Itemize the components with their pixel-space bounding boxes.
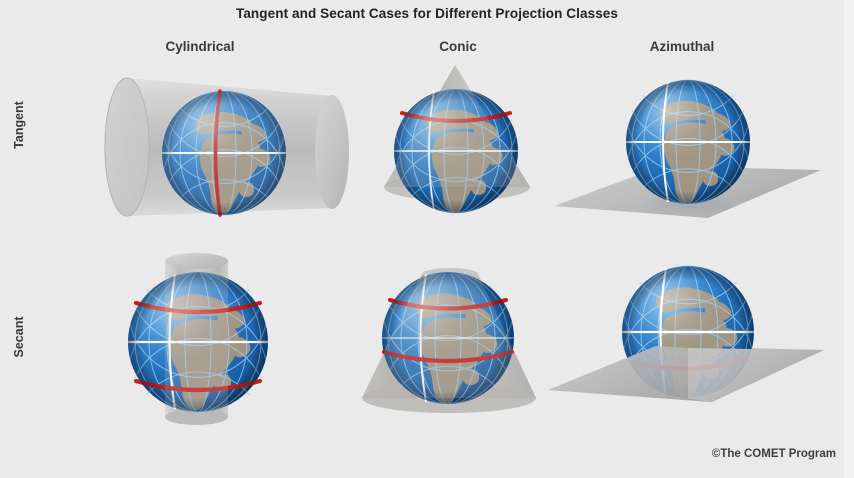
diagram-azimuthal-secant [536,250,836,425]
row-label-secant: Secant [12,292,26,382]
copyright-credit: ©The COMET Program [712,448,836,460]
diagram-cylindrical-tangent [52,58,352,233]
diagram-conic-secant [348,248,558,423]
globe-earth-icon [626,80,750,204]
column-header-azimuthal: Azimuthal [602,39,762,54]
page-title: Tangent and Secant Cases for Different P… [0,6,854,21]
diagram-cylindrical-secant [120,245,340,425]
row-label-tangent: Tangent [12,80,26,170]
right-edge-strip [844,0,854,478]
column-header-cylindrical: Cylindrical [120,39,280,54]
projection-classes-figure: Tangent and Secant Cases for Different P… [0,0,854,478]
column-header-conic: Conic [378,39,538,54]
diagram-azimuthal-tangent [536,58,836,233]
